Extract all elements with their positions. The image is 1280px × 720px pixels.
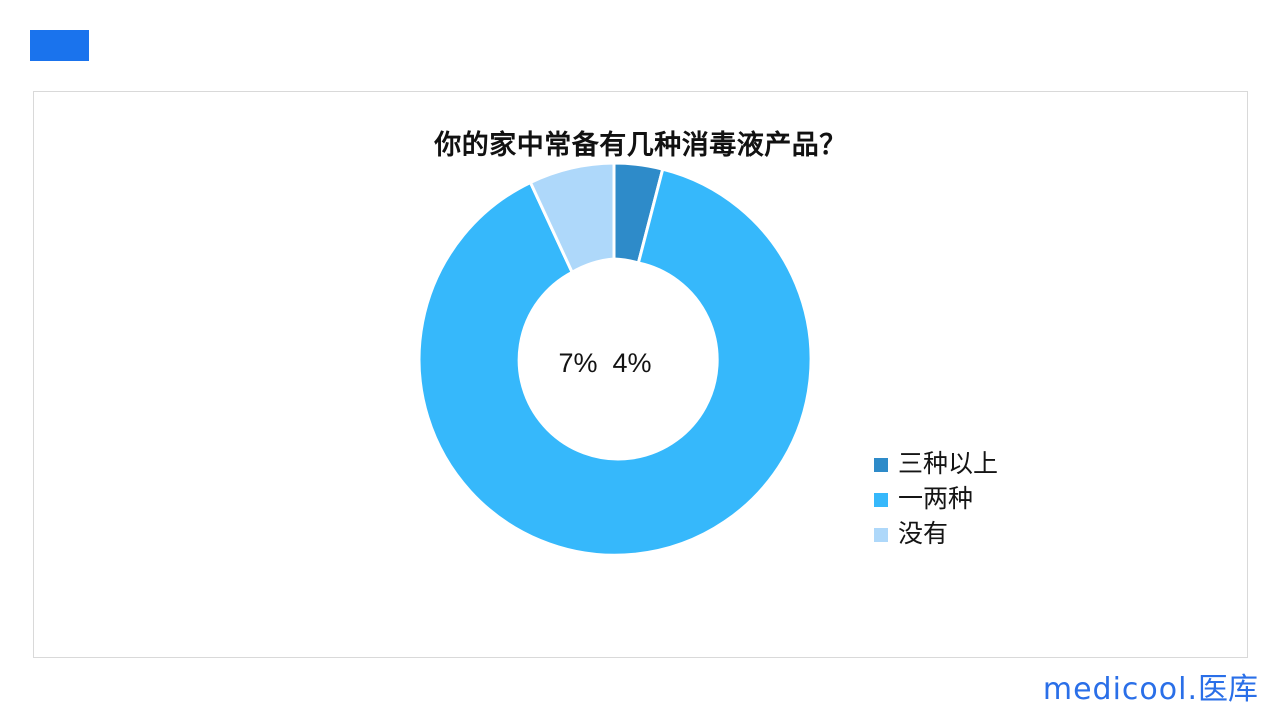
donut-chart: 4% 89% 7% — [386, 131, 842, 587]
legend-item-三种以上[interactable]: 三种以上 — [874, 447, 1124, 482]
brand-logo-cn: 医库 — [1198, 673, 1258, 706]
brand-logo-latin: medicool. — [1043, 672, 1198, 707]
legend-swatch-icon — [874, 458, 888, 472]
brand-logo: medicool.医库 — [1043, 664, 1258, 708]
donut-label-没有: 7% — [558, 348, 597, 378]
legend-item-一两种[interactable]: 一两种 — [874, 482, 1124, 517]
blue-block — [30, 30, 89, 61]
donut-label-三种以上: 4% — [612, 348, 651, 378]
chart-card: 你的家中常备有几种消毒液产品？ 4% 89% 7% 三种以上 一 — [33, 91, 1248, 658]
legend-swatch-icon — [874, 493, 888, 507]
legend-label: 一两种 — [898, 487, 973, 512]
chart-legend: 三种以上 一两种 没有 — [874, 447, 1124, 552]
legend-label: 三种以上 — [898, 452, 998, 477]
legend-label: 没有 — [898, 522, 948, 547]
donut-chart-svg: 4% 89% 7% — [386, 131, 842, 587]
legend-item-没有[interactable]: 没有 — [874, 517, 1124, 552]
legend-swatch-icon — [874, 528, 888, 542]
